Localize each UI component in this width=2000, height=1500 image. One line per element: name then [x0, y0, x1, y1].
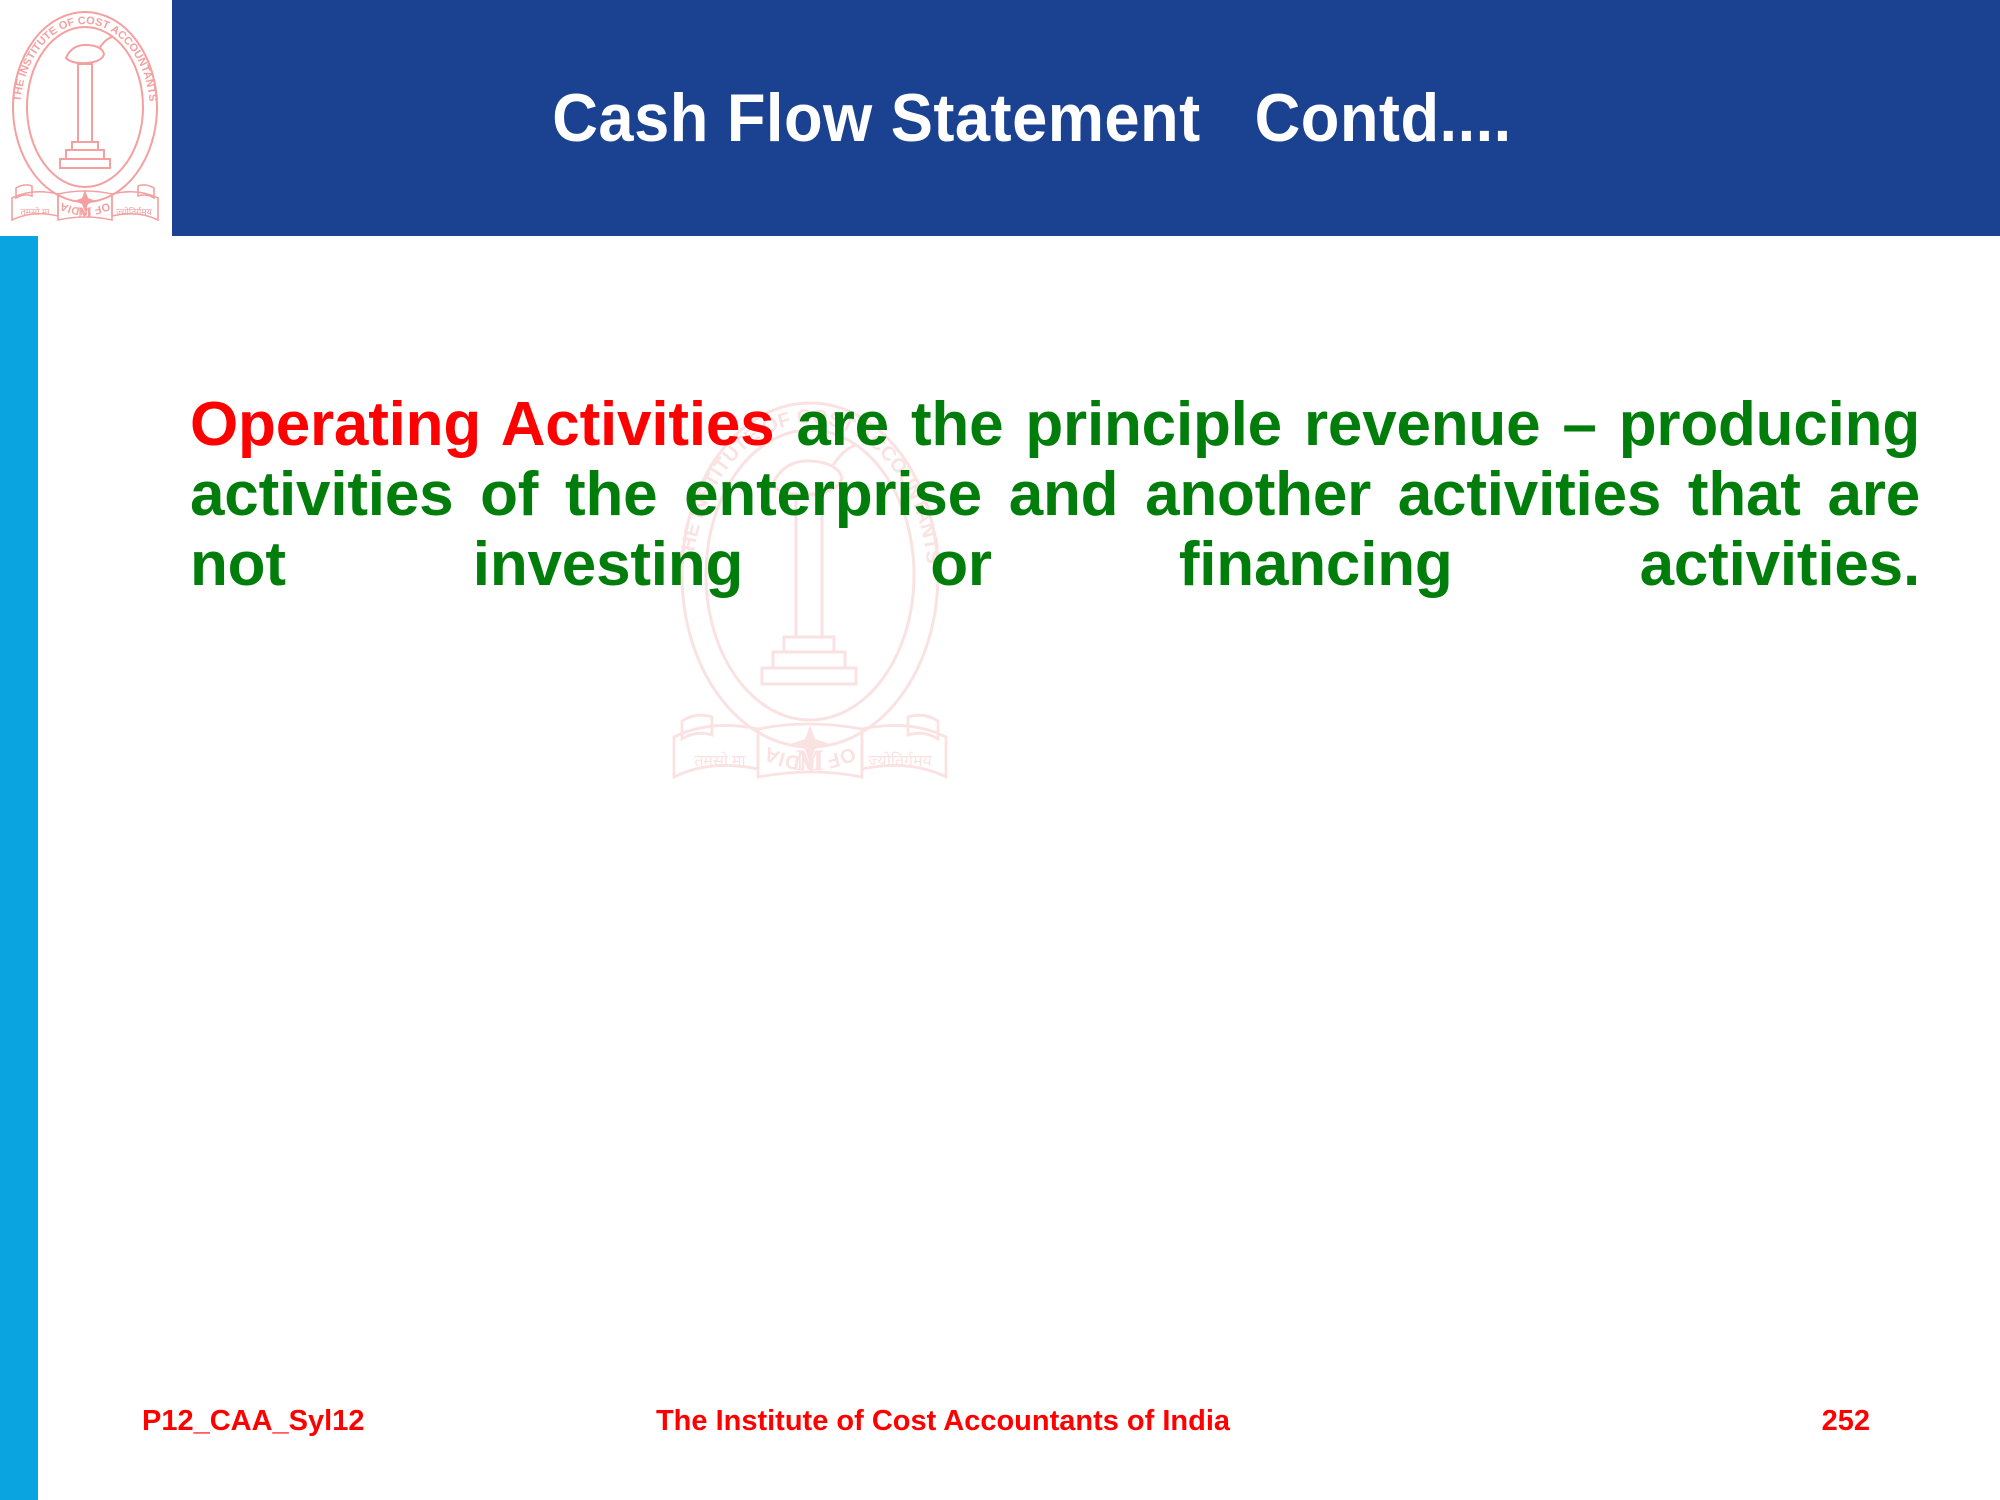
- svg-text:OF INDIA: OF INDIA: [761, 742, 859, 774]
- page-title-main: Cash Flow Statement: [552, 79, 1200, 157]
- svg-text:तमसो मा: तमसो मा: [694, 751, 746, 770]
- page-title: Cash Flow StatementContd....: [232, 0, 1832, 236]
- slide-canvas: Cash Flow StatementContd....: [0, 0, 2000, 1500]
- svg-text:ज्योतिर्गमय: ज्योतिर्गमय: [116, 206, 153, 217]
- svg-text:ज्योतिर्गमय: ज्योतिर्गमय: [868, 751, 932, 770]
- svg-text:तमसो मा: तमसो मा: [21, 206, 51, 217]
- footer-page-number: 252: [1822, 1405, 1870, 1438]
- left-accent-bar: [0, 236, 38, 1500]
- footer-institute-name: The Institute of Cost Accountants of Ind…: [0, 1405, 1943, 1438]
- institute-crest-icon: M तमसो मा ज्योतिर्गमय THE INSTITUTE OF C…: [2, 2, 168, 234]
- page-title-suffix: Contd....: [1255, 79, 1512, 157]
- header-band: Cash Flow StatementContd....: [172, 0, 2000, 236]
- body-content: Operating Activities are the principle r…: [190, 390, 1920, 670]
- body-lead-term: Operating Activities: [190, 390, 774, 459]
- svg-text:M: M: [796, 744, 824, 777]
- body-paragraph: Operating Activities are the principle r…: [190, 390, 1920, 670]
- footer: P12_CAA_Syl12 The Institute of Cost Acco…: [0, 1405, 2000, 1471]
